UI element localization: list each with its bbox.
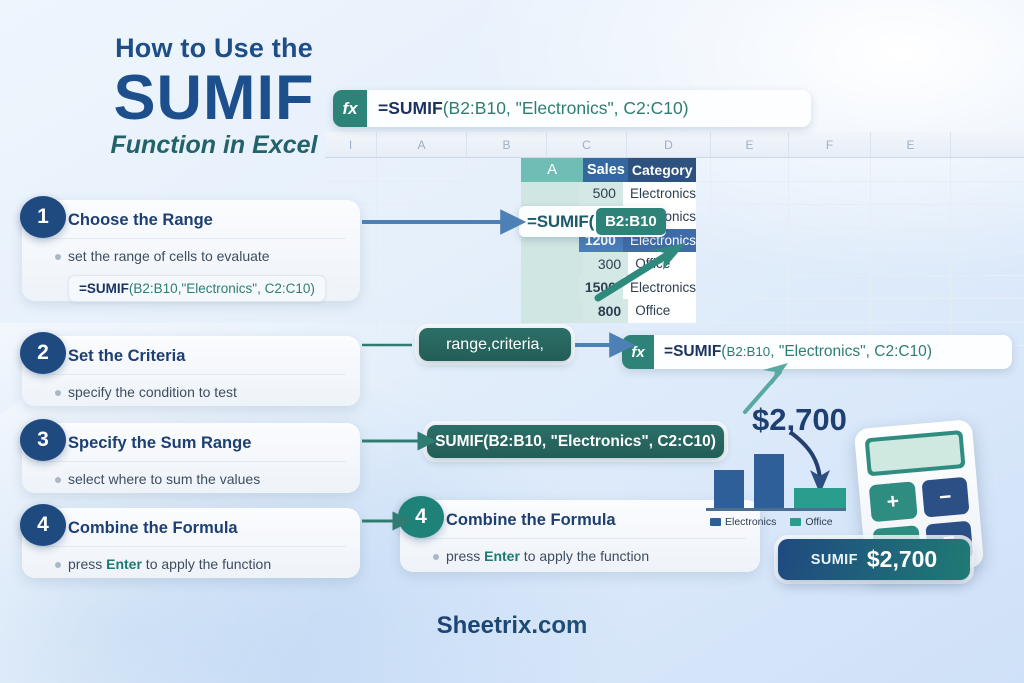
column-header-6[interactable]: F [789,132,871,157]
step-subtitle-4-key: Enter [106,556,142,572]
step-subtitle-2: specify the condition to test [22,375,360,411]
step-subtitle-4-duplicate: press Enter to apply the function [400,539,760,575]
formula-range: B2:B10 [449,98,506,118]
pill-range-criteria[interactable]: range,criteria, [419,328,571,361]
step-title-4: Combine the Formula [22,508,360,546]
formula-comma-1: , [506,98,516,118]
formula-bar-middle[interactable]: fx =SUMIF(B2:B10, "Electronics", C2:C10) [622,335,1012,369]
column-header-1[interactable]: A [377,132,467,157]
step-card-4[interactable]: 4 Combine the Formula press Enter to app… [22,508,360,578]
step-title-2: Set the Criteria [22,336,360,374]
cell-category[interactable]: Office [628,252,696,276]
fx-icon: fx [622,335,654,369]
cell-formula-overlay[interactable]: =SUMIF( B2:B10 [519,206,666,237]
step-subtitle-1: set the range of cells to evaluate [22,239,360,275]
table-header-category: Category [628,158,696,182]
bullet-icon [55,562,61,568]
bullet-icon [55,390,61,396]
formula-name: SUMIF [388,98,442,118]
formula-comma-1: , [770,343,779,360]
calculator-key-plus-1[interactable]: + [869,481,918,522]
result-callout: $2,700 [752,402,847,438]
table-header-sales: Sales [583,158,628,182]
column-header-7[interactable]: E [871,132,951,157]
fx-icon: fx [333,90,367,127]
formula-sum-range: C2:C10 [874,343,927,360]
formula-criteria: "Electronics" [181,281,257,296]
bar-chart: Electronics Office [706,448,856,528]
legend-item-office: Office [790,516,832,528]
chart-bar-electronics-2 [754,454,784,510]
result-badge: SUMIF $2,700 [778,539,970,580]
cell-formula-text: =SUMIF( [527,212,594,232]
formula-range: B2:B10 [726,344,770,359]
step-card-1[interactable]: 1 Choose the Range set the range of cell… [22,200,360,301]
legend-swatch-electronics [710,518,721,526]
step-number-4-duplicate: 4 [398,496,444,538]
step-subtitle-4-post: to apply the function [142,556,271,572]
legend-swatch-office [790,518,801,526]
bullet-icon [55,254,61,260]
table-row[interactable]: 500Electronics [521,182,696,206]
calculator-screen [865,430,966,476]
step-subtitle-4-dup-post: to apply the function [520,548,649,564]
bullet-icon [55,477,61,483]
calculator-key-minus[interactable]: − [921,477,970,518]
table-body: 500ElectronicsElectronics1200Electronics… [521,182,696,323]
step-number-4: 4 [20,504,66,546]
cell-category[interactable]: Electronics [623,182,696,206]
legend-label-electronics: Electronics [725,516,776,528]
column-header-3[interactable]: C [547,132,627,157]
spreadsheet-column-headers: I A B C D E F E [325,132,1024,158]
formula-eq: = [79,281,87,296]
step-card-3[interactable]: 3 Specify the Sum Range select where to … [22,423,360,493]
step-number-2: 2 [20,332,66,374]
result-badge-value: $2,700 [867,546,937,573]
cell-a[interactable] [521,276,579,300]
legend-item-electronics: Electronics [710,516,776,528]
formula-close-paren: ) [927,343,932,360]
step-1-formula: =SUMIF(B2:B10,"Electronics", C2:C10) [68,275,326,302]
chart-legend: Electronics Office [710,516,833,528]
formula-bar-top[interactable]: fx =SUMIF(B2:B10, "Electronics", C2:C10) [333,90,811,127]
formula-eq: = [664,343,673,360]
formula-criteria: "Electronics" [516,98,614,118]
result-badge-label: SUMIF [811,552,858,568]
title-line-how: How to Use the [64,34,364,64]
cell-a[interactable] [521,252,583,276]
table-row[interactable]: 800Office [521,299,696,323]
cell-sales[interactable]: 800 [583,299,629,323]
step-subtitle-4-dup-key: Enter [484,548,520,564]
title-line-function: Function in Excel [64,132,364,160]
cell-sales[interactable]: 1500 [579,276,623,300]
chart-bar-electronics-1 [714,470,744,510]
cell-a[interactable] [521,182,579,206]
cell-category[interactable]: Office [628,299,696,323]
cell-sales[interactable]: 300 [583,252,629,276]
formula-name: SUMIF [87,281,129,296]
step-number-1: 1 [20,196,66,238]
step-title-3: Specify the Sum Range [22,423,360,461]
column-header-4[interactable]: D [627,132,711,157]
formula-sum-range: C2:C10 [623,98,682,118]
table-row[interactable]: 1500Electronics [521,276,696,300]
column-header-5[interactable]: E [711,132,789,157]
formula-bar-middle-text: =SUMIF(B2:B10, "Electronics", C2:C10) [654,343,932,361]
footer-brand: Sheetrix.com [0,612,1024,640]
cell-a[interactable] [521,299,583,323]
pill-sumif-formula[interactable]: SUMIF(B2:B10, "Electronics", C2:C10) [427,425,724,458]
step-subtitle-1-text: set the range of cells to evaluate [68,248,270,264]
step-subtitle-4-pre: press [68,556,106,572]
title-line-sumif: SUMIF [64,66,364,130]
formula-comma-2: , [257,281,265,296]
column-header-0[interactable]: I [325,132,377,157]
formula-name: SUMIF [673,343,721,360]
table-header-a: A [521,158,583,182]
formula-sum-range: C2:C10 [265,281,311,296]
step-subtitle-3-text: select where to sum the values [68,471,260,487]
formula-criteria: "Electronics" [779,343,866,360]
cell-category[interactable]: Electronics [623,276,696,300]
column-header-2[interactable]: B [467,132,547,157]
step-card-2[interactable]: 2 Set the Criteria specify the condition… [22,336,360,406]
bullet-icon [433,554,439,560]
table-row[interactable]: 300Office [521,252,696,276]
chart-bar-office [794,488,846,510]
formula-close-paren: ) [310,281,315,296]
legend-label-office: Office [805,516,832,528]
step-title-1: Choose the Range [22,200,360,238]
step-subtitle-3: select where to sum the values [22,462,360,498]
page-title: How to Use the SUMIF Function in Excel [64,34,364,159]
formula-bar-top-text: =SUMIF(B2:B10, "Electronics", C2:C10) [367,98,689,119]
formula-close-paren: ) [683,98,689,118]
formula-eq: = [378,98,388,118]
step-subtitle-2-text: specify the condition to test [68,384,237,400]
cell-sales[interactable]: 500 [579,182,623,206]
formula-range: B2:B10 [133,281,177,296]
step-subtitle-4: press Enter to apply the function [22,547,360,583]
data-table: A Sales Category 500ElectronicsElectroni… [521,158,696,323]
step-subtitle-4-dup-pre: press [446,548,484,564]
formula-comma-2: , [866,343,875,360]
chart-bars [706,448,856,510]
step-number-3: 3 [20,419,66,461]
spreadsheet: I A B C D E F E A Sales Category 500E [325,132,1024,342]
formula-comma-2: , [614,98,624,118]
cell-range-chip: B2:B10 [596,208,666,235]
chart-axis [706,508,846,511]
table-header-row: A Sales Category [521,158,696,182]
